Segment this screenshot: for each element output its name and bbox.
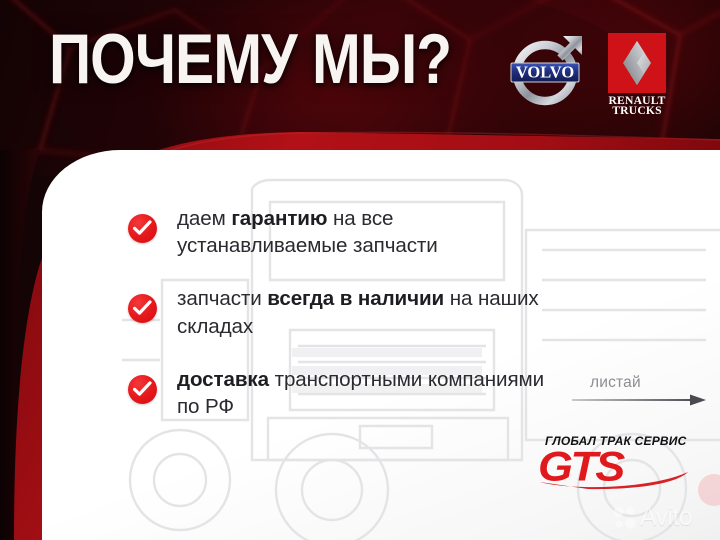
text-run: даем [177, 207, 231, 230]
renault-wordmark-line2: TRUCKS [612, 104, 662, 115]
check-circle-icon [128, 375, 157, 404]
page-title: ПОЧЕМУ МЫ? [49, 25, 451, 96]
text-run-bold: доставка [177, 368, 269, 391]
check-circle-icon [128, 214, 157, 243]
volvo-logo-icon: VOLVO [508, 32, 586, 110]
list-item: доставка транспортными компаниями по РФ [128, 366, 558, 420]
promo-slide: ПОЧЕМУ МЫ? VOLVO [0, 0, 720, 540]
list-item: запчасти всегда в наличии на наших склад… [128, 285, 558, 339]
list-item: даем гарантию на все устанавливаемые зап… [128, 205, 558, 259]
list-item-label: даем гарантию на все устанавливаемые зап… [177, 205, 558, 259]
text-run-bold: всегда в наличии [267, 287, 444, 310]
avito-watermark: Avito [612, 505, 716, 535]
arrow-right-icon [572, 393, 707, 407]
avito-dots-icon [612, 505, 638, 531]
renault-trucks-logo-icon: RENAULT TRUCKS [604, 33, 670, 115]
text-run-bold: гарантию [231, 207, 327, 230]
company-mark: GTS [538, 445, 623, 487]
avito-wordmark: Avito [640, 503, 692, 532]
swipe-hint-label: листай [590, 374, 641, 392]
text-run: запчасти [177, 287, 267, 310]
company-logo: ГЛОБАЛ ТРАК СЕРВИС GTS [538, 434, 694, 490]
volvo-wordmark: VOLVO [516, 63, 574, 82]
benefits-list: даем гарантию на все устанавливаемые зап… [128, 205, 558, 446]
list-item-label: запчасти всегда в наличии на наших склад… [177, 285, 558, 339]
check-circle-icon [128, 294, 157, 323]
list-item-label: доставка транспортными компаниями по РФ [177, 366, 558, 420]
